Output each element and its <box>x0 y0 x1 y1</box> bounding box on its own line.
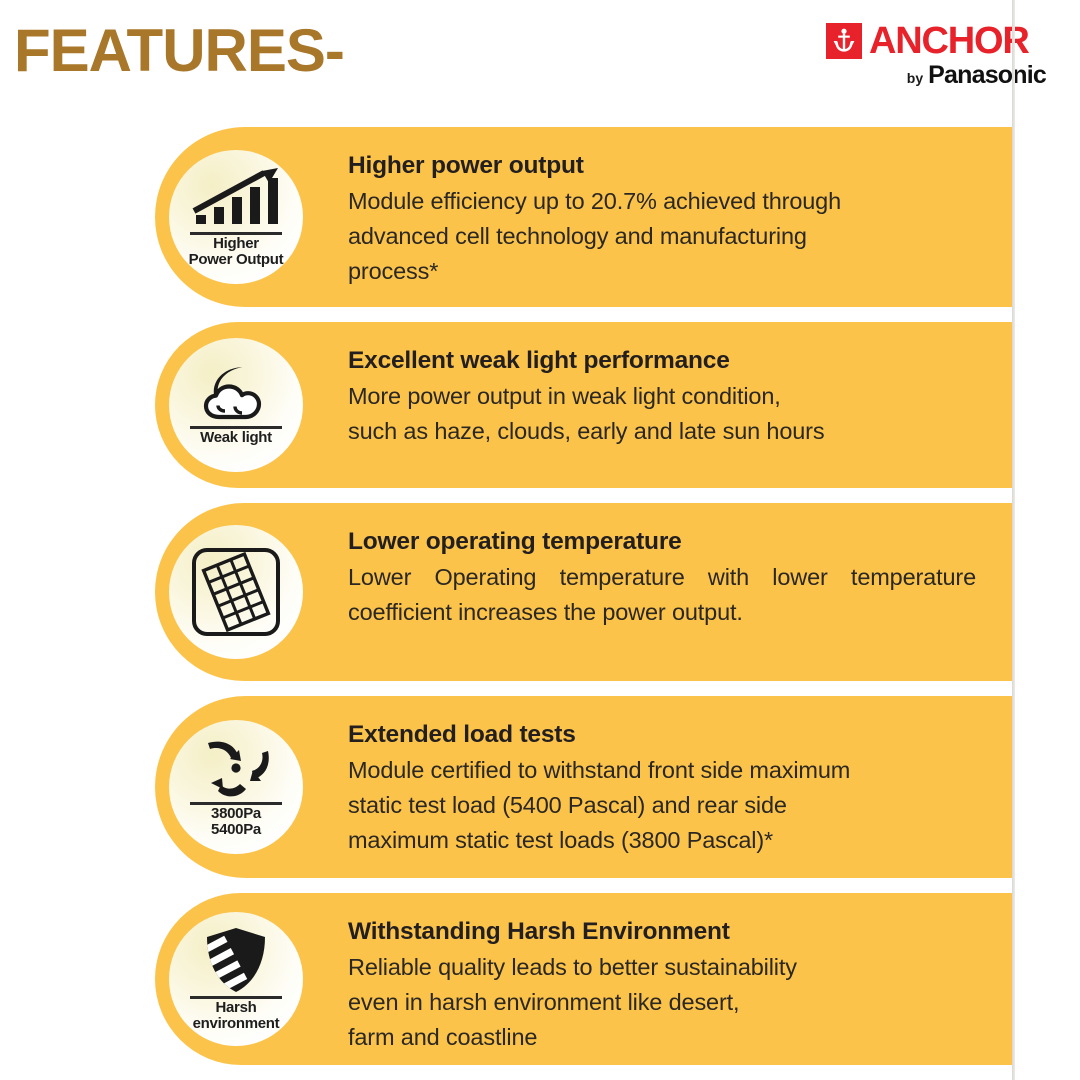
moon-cloud-icon <box>193 365 279 423</box>
page-header: FEATURES- ANCHOR by Panasonic <box>0 0 1080 118</box>
feature-icon-caption: 3800Pa 5400Pa <box>211 806 261 837</box>
pinwheel-load-icon <box>198 737 274 799</box>
feature-body: Reliable quality leads to better sustain… <box>348 950 976 1055</box>
feature-icon-badge: Higher Power Output <box>169 150 303 284</box>
brand-name: ANCHOR <box>869 23 1029 59</box>
solar-panel-icon <box>188 544 284 640</box>
feature-list: Higher Power Output Higher power output … <box>155 127 1012 1080</box>
parent-brand-name: Panasonic <box>928 61 1046 90</box>
feature-body: Lower Operating temperature with lower t… <box>348 560 976 630</box>
feature-icon-badge <box>169 525 303 659</box>
feature-card-extended-load-tests: 3800Pa 5400Pa Extended load tests Module… <box>155 696 1012 878</box>
brand-by-label: by <box>907 70 923 86</box>
feature-text-block: Excellent weak light performance More po… <box>348 322 994 449</box>
feature-body: More power output in weak light conditio… <box>348 379 976 449</box>
feature-card-lower-operating-temperature: Lower operating temperature Lower Operat… <box>155 503 1012 681</box>
feature-icon-badge: 3800Pa 5400Pa <box>169 720 303 854</box>
feature-icon-caption: Higher Power Output <box>189 236 284 267</box>
feature-card-weak-light-performance: Weak light Excellent weak light performa… <box>155 322 1012 488</box>
feature-body: Module efficiency up to 20.7% achieved t… <box>348 184 976 289</box>
feature-icon-caption: Harsh environment <box>193 1000 280 1031</box>
feature-text-block: Extended load tests Module certified to … <box>348 696 994 858</box>
features-page: FEATURES- ANCHOR by Panasonic <box>0 0 1080 1080</box>
feature-text-block: Withstanding Harsh Environment Reliable … <box>348 893 994 1055</box>
feature-icon-badge: Weak light <box>169 338 303 472</box>
feature-card-higher-power-output: Higher Power Output Higher power output … <box>155 127 1012 307</box>
feature-icon-caption: Weak light <box>200 430 272 446</box>
page-title: FEATURES- <box>14 16 344 85</box>
feature-text-block: Lower operating temperature Lower Operat… <box>348 503 994 630</box>
feature-heading: Excellent weak light performance <box>348 346 976 376</box>
striped-shield-icon <box>205 927 267 993</box>
page-edge-divider <box>1012 0 1015 1080</box>
feature-heading: Extended load tests <box>348 720 976 750</box>
feature-heading: Lower operating temperature <box>348 527 976 557</box>
feature-heading: Higher power output <box>348 151 976 181</box>
feature-body: Module certified to withstand front side… <box>348 753 976 858</box>
rising-bar-chart-icon <box>190 167 282 229</box>
anchor-logo-mark <box>826 23 862 59</box>
feature-heading: Withstanding Harsh Environment <box>348 917 976 947</box>
anchor-icon <box>833 28 855 54</box>
feature-icon-badge: Harsh environment <box>169 912 303 1046</box>
feature-text-block: Higher power output Module efficiency up… <box>348 127 994 289</box>
feature-card-harsh-environment: Harsh environment Withstanding Harsh Env… <box>155 893 1012 1065</box>
